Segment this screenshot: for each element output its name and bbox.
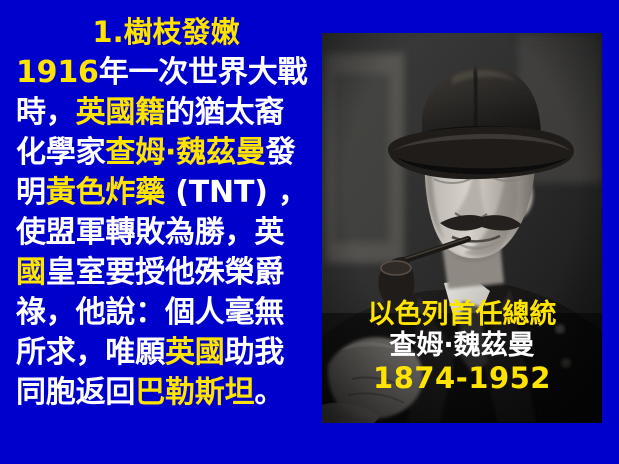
text-run: 發 <box>266 135 296 170</box>
body-line: 祿，他說：個人毫無 <box>10 293 316 333</box>
text-run: 的猶太裔 <box>165 95 284 130</box>
text-run: (TNT) ， <box>165 175 308 210</box>
body-line: 明黃色炸藥 (TNT) ， <box>10 173 316 213</box>
page-title: 1.樹枝發嫩 <box>10 18 316 47</box>
body-line: 同胞返回巴勒斯坦。 <box>10 373 316 413</box>
body-line: 1916年一次世界大戰 <box>10 53 316 93</box>
text-run: 祿，他說：個人毫無 <box>16 295 284 330</box>
text-run: 皇室要授他殊榮爵 <box>46 255 284 290</box>
text-run: 年一次世界大戰 <box>99 55 308 90</box>
text-run: 使盟軍轉敗為勝，英 <box>16 215 284 250</box>
body-line: 使盟軍轉敗為勝，英 <box>10 213 316 253</box>
highlighted-text-run: 巴勒斯坦 <box>135 375 254 410</box>
text-run: 助我 <box>225 335 285 370</box>
highlighted-text-run: 1916 <box>16 55 99 90</box>
body-line: 所求，唯願英國助我 <box>10 333 316 373</box>
body-line: 化學家查姆·魏茲曼發 <box>10 133 316 173</box>
portrait-illustration <box>322 33 602 423</box>
highlighted-text-run: 黃色炸藥 <box>46 175 165 210</box>
body-line: 國皇室要授他殊榮爵 <box>10 253 316 293</box>
text-run: 明 <box>16 175 46 210</box>
highlighted-text-run: 查姆·魏茲曼 <box>105 135 265 170</box>
body-line: 時，英國籍的猶太裔 <box>10 93 316 133</box>
body-paragraph: 1916年一次世界大戰時，英國籍的猶太裔化學家查姆·魏茲曼發明黃色炸藥 (TNT… <box>10 53 316 413</box>
text-run: 時， <box>16 95 76 130</box>
highlighted-text-run: 國 <box>16 255 46 290</box>
text-run: 化學家 <box>16 135 105 170</box>
text-column: 1.樹枝發嫩 1916年一次世界大戰時，英國籍的猶太裔化學家查姆·魏茲曼發明黃色… <box>0 0 322 464</box>
text-run: 所求，唯願 <box>16 335 165 370</box>
highlighted-text-run: 英國籍 <box>76 95 165 130</box>
text-run: 同胞返回 <box>16 375 135 410</box>
slide-canvas: 1.樹枝發嫩 1916年一次世界大戰時，英國籍的猶太裔化學家查姆·魏茲曼發明黃色… <box>0 0 619 464</box>
portrait-photo <box>322 33 602 423</box>
text-run: 。 <box>254 375 284 410</box>
highlighted-text-run: 英國 <box>165 335 225 370</box>
